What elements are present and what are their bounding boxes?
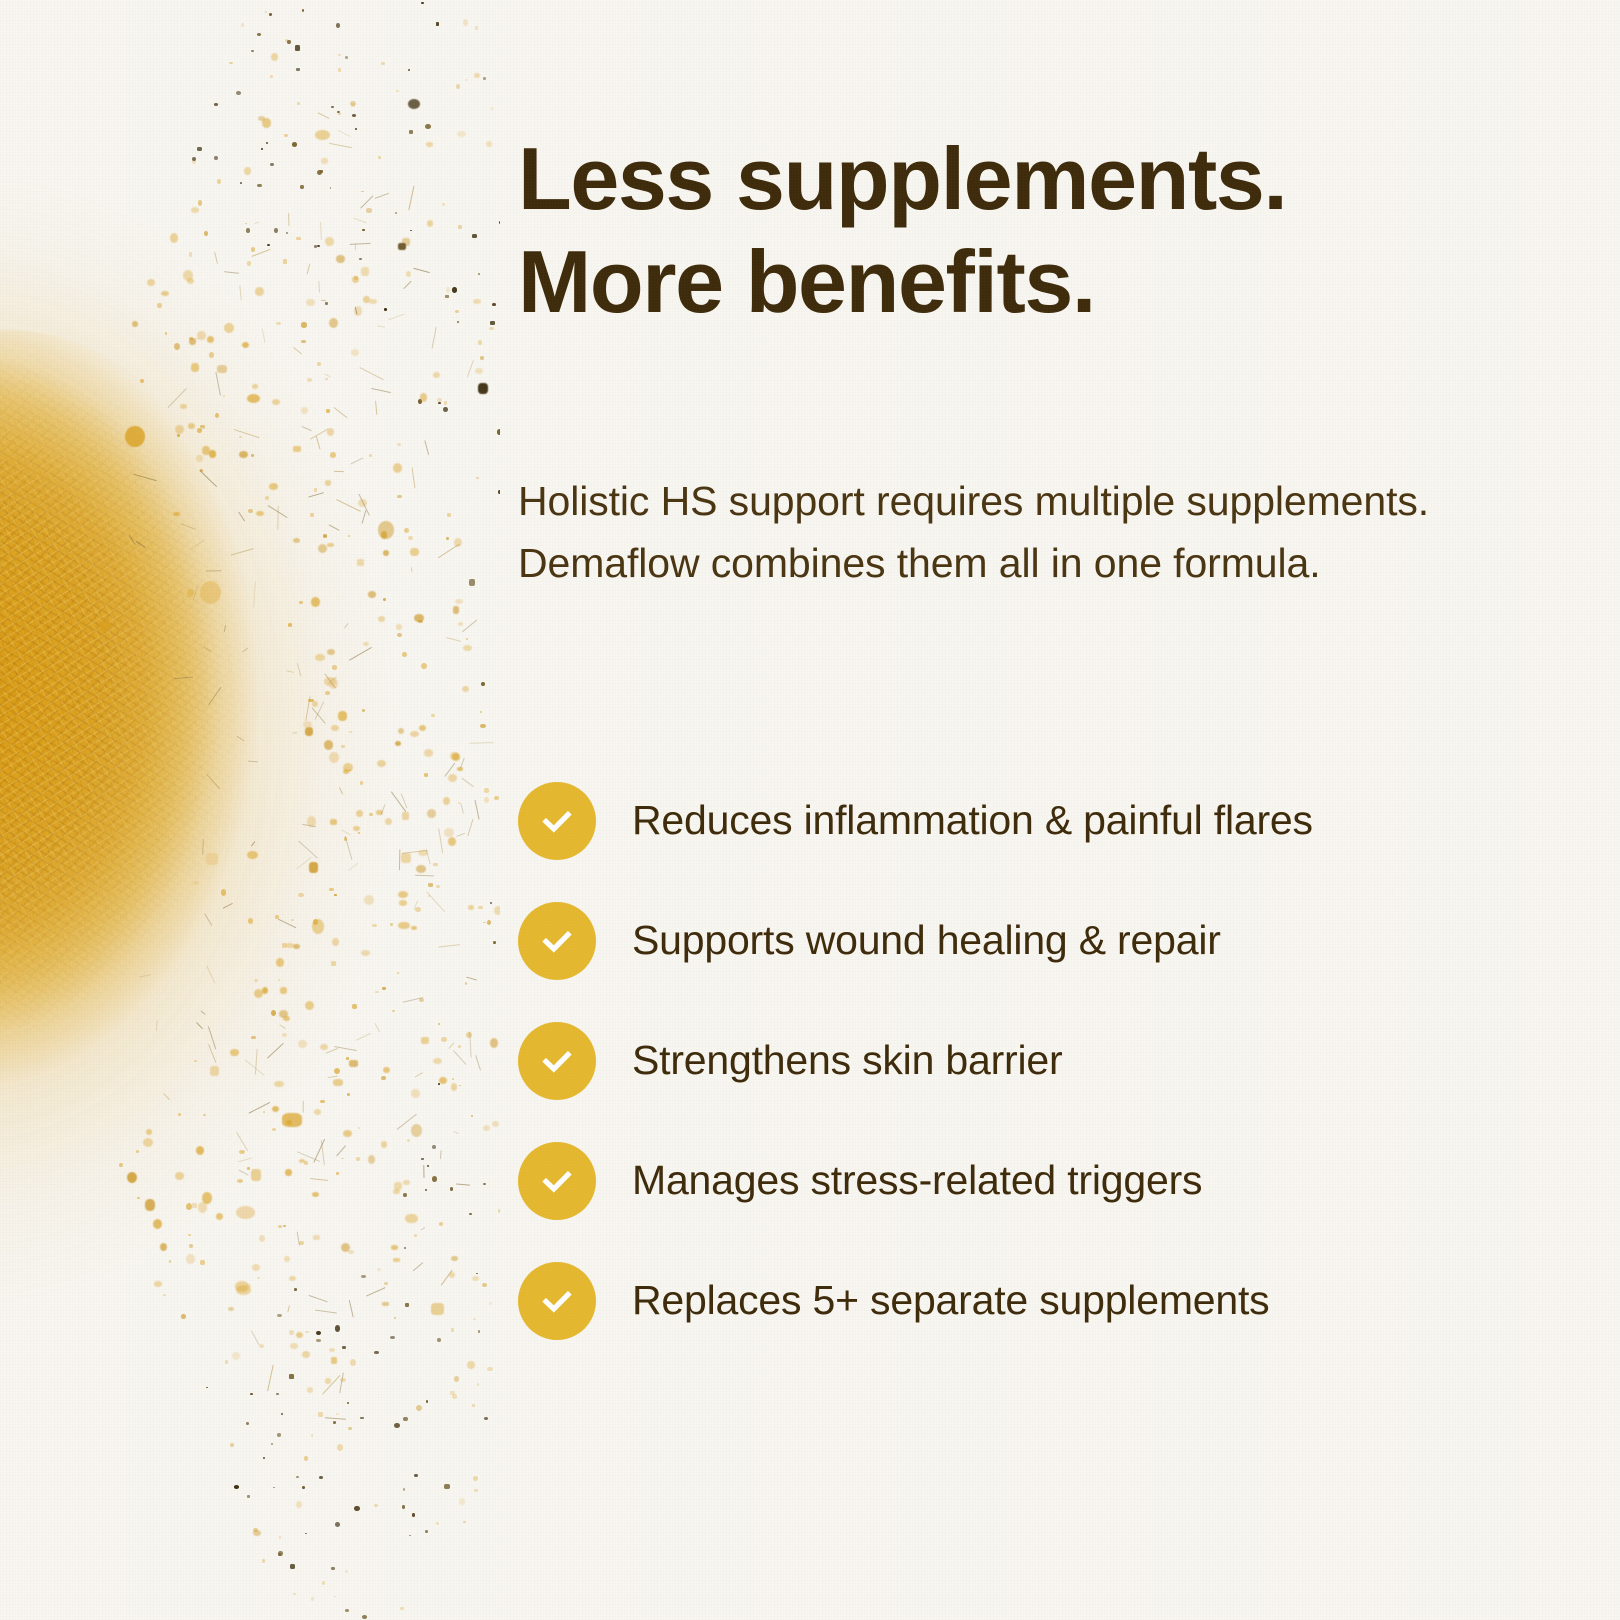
powder-fibre [349, 646, 373, 660]
powder-speck [322, 1581, 326, 1585]
powder-speck [458, 225, 462, 229]
powder-speck [302, 1351, 310, 1359]
powder-speck [290, 1343, 298, 1349]
powder-speck [336, 255, 345, 264]
powder-speck [296, 1332, 303, 1338]
powder-fibre [339, 786, 343, 793]
powder-speck [191, 363, 198, 372]
powder-fibre [475, 1055, 481, 1070]
powder-fibre [426, 891, 445, 912]
powder-speck [493, 941, 496, 944]
powder-fibre [310, 1178, 328, 1181]
powder-speck [282, 943, 287, 948]
powder-speck [346, 1057, 350, 1059]
powder-speck [304, 1456, 309, 1461]
powder-speck [160, 1243, 167, 1251]
powder-fibre [306, 264, 310, 275]
powder-fibre [338, 130, 351, 138]
powder-speck [338, 54, 341, 56]
powder-speck [378, 156, 381, 159]
powder-speck [350, 101, 356, 106]
powder-speck [360, 1417, 364, 1420]
powder-speck [474, 1489, 478, 1493]
powder-speck [332, 938, 339, 946]
powder-speck [356, 810, 362, 817]
powder-speck [251, 247, 255, 252]
powder-speck [396, 624, 403, 630]
powder-speck [239, 436, 242, 438]
powder-speck [119, 1163, 123, 1167]
powder-speck [257, 184, 262, 188]
powder-speck [359, 258, 362, 261]
powder-speck [361, 1275, 366, 1278]
powder-speck [244, 167, 251, 175]
powder-speck [200, 581, 221, 604]
powder-speck [475, 368, 483, 374]
powder-speck [265, 11, 268, 13]
powder-speck [274, 228, 278, 233]
subheading-paragraph: Holistic HS support requires multiple su… [518, 470, 1488, 595]
powder-speck [298, 893, 304, 897]
powder-fibre [204, 647, 213, 653]
powder-speck [284, 134, 288, 137]
powder-fibre [199, 470, 217, 488]
powder-speck [414, 1234, 418, 1237]
powder-speck [494, 906, 501, 915]
powder-fibre [224, 272, 239, 275]
powder-speck [298, 1040, 307, 1048]
powder-speck [411, 1124, 422, 1137]
powder-speck [467, 1361, 474, 1369]
check-circle-icon [518, 1262, 596, 1340]
powder-fibre [206, 774, 221, 790]
powder-fibre [248, 761, 258, 763]
powder-speck [396, 90, 399, 92]
powder-speck [490, 902, 492, 904]
powder-speck [287, 40, 291, 44]
powder-fibre [412, 1262, 423, 1272]
powder-speck [462, 686, 470, 692]
powder-fibre [204, 913, 212, 926]
powder-speck [465, 79, 468, 81]
powder-speck [431, 714, 435, 718]
powder-speck [296, 237, 301, 240]
powder-speck [391, 1245, 398, 1250]
powder-speck [402, 1505, 406, 1509]
powder-speck [369, 299, 377, 305]
powder-speck [426, 142, 433, 146]
powder-speck [174, 343, 180, 350]
powder-speck [382, 987, 386, 990]
powder-speck [419, 725, 426, 731]
powder-fibre [336, 1145, 346, 1156]
benefit-item: Supports wound healing & repair [518, 902, 1478, 980]
powder-speck [239, 451, 248, 459]
powder-fibre [446, 637, 461, 642]
powder-fibre [155, 1020, 157, 1031]
powder-fibre [215, 372, 221, 396]
powder-speck [381, 1076, 386, 1080]
powder-speck [320, 1044, 328, 1050]
powder-fibre [439, 1150, 441, 1159]
powder-fibre [375, 193, 390, 200]
powder-speck [401, 853, 411, 864]
powder-speck [333, 1421, 336, 1424]
powder-speck [261, 148, 263, 150]
powder-speck [242, 342, 250, 348]
benefit-item: Replaces 5+ separate supplements [518, 1262, 1478, 1340]
powder-speck [358, 1127, 361, 1130]
powder-speck [403, 1417, 408, 1422]
powder-speck [163, 1294, 166, 1296]
powder-speck [294, 1288, 297, 1291]
powder-speck [355, 128, 357, 131]
powder-speck [248, 509, 253, 513]
turmeric-powder-image [0, 0, 500, 1620]
powder-fibre [190, 540, 204, 550]
powder-fibre [239, 286, 242, 301]
powder-speck [415, 907, 421, 912]
powder-speck [494, 796, 499, 800]
powder-speck [433, 863, 438, 866]
powder-fibre [329, 525, 340, 532]
powder-speck [254, 989, 263, 998]
powder-speck [483, 1125, 491, 1131]
powder-speck [137, 1197, 140, 1199]
powder-speck [414, 1474, 418, 1478]
powder-speck [418, 620, 422, 623]
powder-speck [224, 323, 234, 334]
powder-speck [427, 1165, 429, 1168]
powder-speck [207, 336, 214, 343]
powder-fibre [453, 1130, 459, 1133]
benefit-item: Manages stress-related triggers [518, 1142, 1478, 1220]
powder-speck [252, 1264, 260, 1271]
powder-speck [232, 1352, 240, 1360]
powder-fibre [238, 1157, 252, 1162]
powder-speck [321, 158, 328, 165]
powder-fibre [308, 491, 324, 497]
powder-speck [345, 1570, 348, 1573]
powder-speck [478, 1330, 481, 1333]
powder-fibre [466, 977, 477, 981]
benefit-item: Reduces inflammation & painful flares [518, 782, 1478, 860]
powder-speck [404, 528, 409, 533]
powder-speck [286, 232, 288, 234]
powder-speck [483, 77, 487, 80]
powder-speck [345, 56, 348, 60]
powder-speck [480, 724, 485, 729]
powder-speck [362, 229, 365, 231]
powder-speck [288, 623, 293, 627]
powder-speck [257, 33, 261, 36]
powder-speck [433, 372, 440, 378]
powder-speck [307, 378, 312, 382]
powder-speck [316, 1339, 321, 1343]
powder-speck [332, 665, 338, 670]
powder-speck [368, 591, 376, 598]
powder-speck [193, 881, 199, 885]
powder-speck [217, 179, 221, 184]
powder-speck [305, 1533, 307, 1534]
powder-speck [323, 534, 327, 538]
powder-speck [143, 1138, 153, 1147]
powder-speck [312, 1192, 319, 1198]
powder-speck [487, 920, 492, 926]
powder-speck [251, 50, 253, 52]
powder-speck [410, 548, 418, 556]
powder-fibre [317, 112, 329, 119]
powder-speck [175, 425, 184, 435]
powder-fibre [456, 832, 465, 837]
powder-speck [402, 812, 409, 820]
powder-fibre [205, 570, 221, 572]
powder-fibre [174, 676, 193, 679]
powder-speck [421, 1037, 429, 1044]
powder-speck [271, 53, 278, 61]
powder-speck [305, 1001, 315, 1011]
powder-speck [331, 1567, 335, 1570]
powder-speck [377, 1268, 381, 1271]
page-title: Less supplements. More benefits. [518, 128, 1438, 334]
powder-fibre [466, 819, 473, 837]
powder-speck [409, 1535, 411, 1537]
powder-speck [458, 1045, 461, 1048]
powder-speck [397, 633, 402, 637]
powder-speck [416, 865, 426, 872]
benefit-label: Reduces inflammation & painful flares [632, 798, 1313, 843]
powder-speck [153, 1219, 163, 1230]
powder-speck [337, 1444, 343, 1451]
powder-speck [187, 278, 195, 284]
powder-fibre [320, 222, 322, 240]
check-circle-icon [518, 902, 596, 980]
powder-speck [338, 711, 347, 721]
benefit-label: Replaces 5+ separate supplements [632, 1278, 1269, 1323]
powder-fibre [305, 696, 311, 721]
powder-speck [276, 1393, 278, 1395]
powder-speck [311, 1434, 313, 1437]
powder-fibre [469, 741, 493, 743]
powder-speck [293, 1593, 296, 1596]
powder-speck [198, 1202, 207, 1213]
powder-speck [341, 745, 345, 749]
benefit-label: Supports wound healing & repair [632, 918, 1221, 963]
powder-speck [247, 1167, 250, 1170]
powder-speck [357, 559, 364, 566]
powder-speck [483, 922, 485, 924]
powder-speck [217, 365, 227, 372]
powder-speck [301, 407, 308, 413]
powder-speck [454, 1376, 460, 1382]
powder-speck [263, 1111, 265, 1113]
powder-speck [251, 1169, 261, 1181]
powder-speck [262, 1559, 265, 1563]
powder-speck [293, 446, 301, 452]
powder-speck [181, 1314, 187, 1319]
powder-speck [431, 1303, 444, 1315]
powder-speck [400, 1607, 404, 1610]
powder-speck [309, 862, 318, 873]
powder-speck [421, 663, 427, 669]
powder-speck [313, 1235, 320, 1240]
powder-fibre [344, 836, 352, 860]
powder-speck [402, 652, 406, 657]
powder-speck [398, 728, 404, 734]
powder-speck [317, 362, 322, 367]
powder-fibre [334, 471, 344, 473]
powder-fibre [242, 647, 248, 652]
powder-speck [378, 616, 386, 622]
powder-speck [169, 1260, 171, 1263]
powder-fibre [415, 875, 434, 877]
powder-speck [341, 1158, 344, 1160]
powder-fibre [448, 1042, 454, 1049]
powder-speck [299, 601, 303, 604]
powder-fibre [461, 778, 474, 788]
powder-speck [483, 1183, 486, 1185]
powder-speck [377, 760, 386, 768]
powder-speck [473, 299, 481, 305]
powder-speck [457, 131, 466, 137]
powder-speck [411, 1089, 420, 1098]
powder-speck [476, 477, 479, 480]
powder-speck [408, 536, 414, 541]
powder-speck [330, 819, 337, 826]
powder-fibre [254, 221, 259, 224]
powder-speck [451, 1083, 457, 1091]
powder-speck [272, 1128, 277, 1131]
powder-speck [397, 443, 401, 446]
powder-speck [446, 537, 449, 540]
powder-speck [173, 512, 180, 517]
powder-speck [482, 1283, 488, 1287]
powder-speck [334, 1596, 336, 1598]
powder-speck [284, 1256, 291, 1262]
powder-speck [471, 1115, 474, 1117]
powder-fibre [238, 512, 245, 522]
powder-speck [293, 944, 299, 949]
powder-speck [206, 853, 218, 866]
powder-fibre [133, 474, 157, 482]
powder-speck [270, 163, 274, 166]
benefits-list: Reduces inflammation & painful flaresSup… [518, 782, 1478, 1340]
powder-speck [484, 797, 489, 803]
powder-speck [492, 1121, 499, 1127]
powder-speck [383, 1067, 390, 1073]
powder-speck [404, 1247, 406, 1249]
powder-speck [327, 649, 334, 655]
powder-speck [228, 1307, 234, 1311]
powder-fibre [315, 1310, 336, 1314]
powder-speck [276, 958, 285, 967]
powder-speck [410, 230, 412, 232]
powder-speck [317, 170, 322, 175]
powder-speck [281, 1413, 283, 1415]
powder-speck [477, 1383, 479, 1386]
powder-fibre [420, 1226, 425, 1230]
powder-speck [366, 208, 372, 213]
powder-fibre [348, 862, 358, 871]
powder-speck [251, 1036, 256, 1040]
powder-speck [239, 1150, 245, 1154]
powder-speck [451, 1256, 458, 1261]
powder-speck [338, 113, 341, 115]
powder-speck [437, 1338, 441, 1343]
powder-speck [345, 1609, 349, 1612]
powder-speck [330, 187, 332, 189]
powder-fibre [286, 1305, 289, 1312]
powder-speck [456, 84, 460, 89]
powder-speck [393, 1189, 399, 1194]
powder-speck [390, 1336, 395, 1339]
benefit-label: Strengthens skin barrier [632, 1038, 1062, 1083]
powder-speck [457, 321, 459, 323]
powder-speck [497, 429, 500, 435]
powder-speck [325, 480, 332, 485]
powder-speck [191, 207, 200, 213]
powder-speck [230, 1443, 234, 1447]
powder-speck [316, 1331, 321, 1335]
powder-speck [310, 513, 314, 517]
powder-fibre [196, 1022, 203, 1029]
powder-speck [204, 231, 208, 236]
powder-fibre [366, 1286, 386, 1296]
powder-speck [381, 1141, 388, 1148]
powder-speck [394, 1317, 396, 1319]
powder-speck [432, 1176, 438, 1182]
powder-speck [303, 721, 312, 728]
powder-speck [215, 413, 219, 418]
powder-speck [442, 203, 445, 207]
powder-speck [347, 1093, 350, 1096]
powder-speck [425, 1189, 428, 1192]
powder-speck [463, 645, 472, 651]
powder-speck [330, 452, 336, 457]
powder-speck [334, 1068, 340, 1074]
powder-speck [436, 22, 439, 25]
powder-speck [336, 1413, 339, 1415]
powder-fibre [224, 624, 227, 632]
powder-speck [444, 828, 454, 837]
powder-speck [329, 888, 334, 892]
powder-speck [214, 156, 218, 160]
powder-fibre [371, 388, 391, 393]
powder-speck [325, 237, 334, 247]
powder-fibre [293, 347, 302, 355]
powder-fibre [202, 839, 204, 855]
powder-speck [421, 1158, 423, 1160]
powder-speck [297, 102, 300, 105]
powder-speck [326, 409, 330, 413]
check-circle-icon [518, 782, 596, 860]
powder-fibre [410, 567, 412, 572]
powder-speck [395, 741, 401, 747]
powder-speck [409, 130, 414, 134]
powder-speck [331, 106, 334, 109]
powder-speck [348, 535, 350, 538]
powder-speck [335, 1325, 341, 1332]
powder-speck [472, 234, 477, 238]
powder-speck [254, 979, 258, 982]
powder-speck [198, 200, 202, 205]
powder-speck [178, 1113, 180, 1116]
powder-speck [362, 1615, 367, 1619]
powder-fibre [415, 1071, 424, 1077]
powder-speck [229, 62, 233, 65]
powder-speck [351, 349, 359, 356]
powder-speck [127, 1172, 137, 1183]
